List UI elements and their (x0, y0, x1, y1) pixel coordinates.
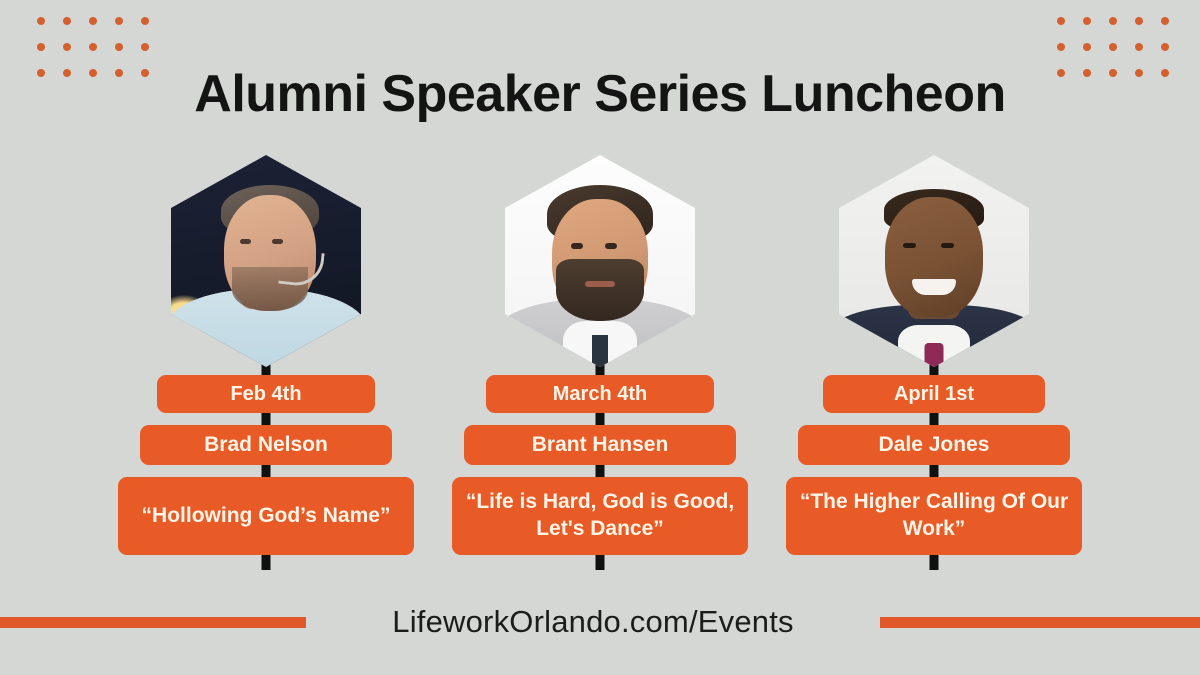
dot (89, 17, 97, 25)
speaker-date-badge: Feb 4th (157, 375, 375, 413)
dot (1083, 17, 1091, 25)
speaker-card: March 4th Brant Hansen “Life is Hard, Go… (452, 155, 748, 555)
dot (37, 17, 45, 25)
speaker-info: Feb 4th Brad Nelson “Hollowing God’s Nam… (118, 375, 414, 555)
dot (115, 43, 123, 51)
speaker-photo-brad-nelson (171, 155, 361, 367)
speaker-topic-badge: “The Higher Calling Of Our Work” (786, 477, 1082, 555)
dot (1109, 43, 1117, 51)
footer-url[interactable]: LifeworkOrlando.com/Events (306, 604, 880, 640)
dot (1057, 43, 1065, 51)
speaker-name-badge: Dale Jones (798, 425, 1070, 465)
dot (1161, 43, 1169, 51)
dot (63, 17, 71, 25)
speaker-list: Feb 4th Brad Nelson “Hollowing God’s Nam… (0, 155, 1200, 555)
dot (37, 43, 45, 51)
speaker-topic-badge: “Hollowing God’s Name” (118, 477, 414, 555)
dot (63, 43, 71, 51)
dot (1057, 17, 1065, 25)
footer-rule-right (880, 617, 1200, 628)
page-title: Alumni Speaker Series Luncheon (0, 64, 1200, 124)
dot (141, 43, 149, 51)
dot (1109, 17, 1117, 25)
dot (115, 17, 123, 25)
footer-rule-left (0, 617, 306, 628)
dot (1135, 17, 1143, 25)
speaker-topic-badge: “Life is Hard, God is Good, Let's Dance” (452, 477, 748, 555)
speaker-photo-dale-jones (839, 155, 1029, 367)
dot (1161, 17, 1169, 25)
speaker-name-badge: Brant Hansen (464, 425, 736, 465)
speaker-info: April 1st Dale Jones “The Higher Calling… (786, 375, 1082, 555)
footer: LifeworkOrlando.com/Events (0, 600, 1200, 644)
dot (141, 17, 149, 25)
speaker-date-badge: March 4th (486, 375, 714, 413)
dot (89, 43, 97, 51)
dot (1083, 43, 1091, 51)
dot (1135, 43, 1143, 51)
speaker-card: Feb 4th Brad Nelson “Hollowing God’s Nam… (118, 155, 414, 555)
speaker-info: March 4th Brant Hansen “Life is Hard, Go… (452, 375, 748, 555)
speaker-photo-brant-hansen (505, 155, 695, 367)
speaker-card: April 1st Dale Jones “The Higher Calling… (786, 155, 1082, 555)
speaker-name-badge: Brad Nelson (140, 425, 392, 465)
speaker-date-badge: April 1st (823, 375, 1045, 413)
